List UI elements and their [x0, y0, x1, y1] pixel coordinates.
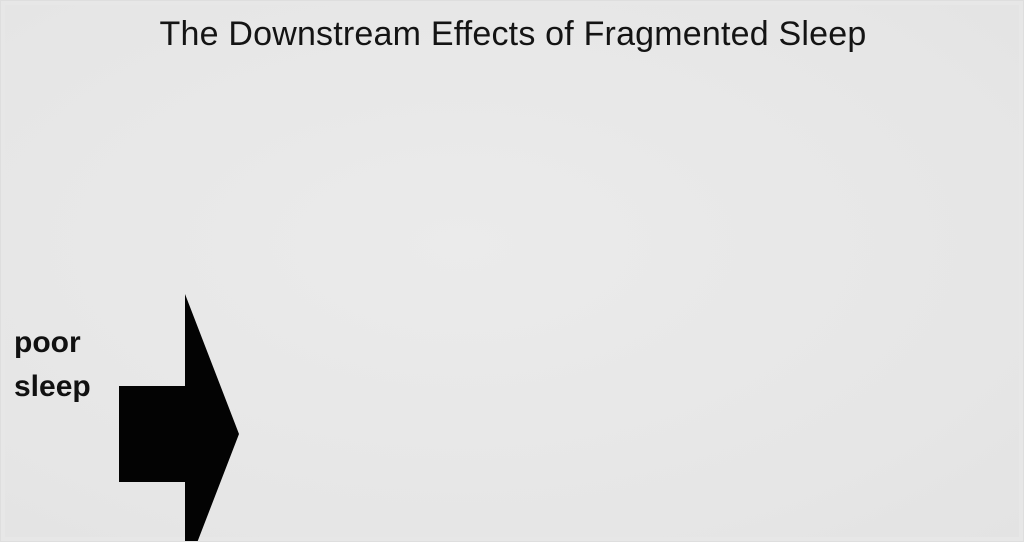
slide-canvas: The Downstream Effects of Fragmented Sle…: [0, 0, 1024, 542]
block-arrow-right-icon-1: [119, 294, 239, 542]
page-title: The Downstream Effects of Fragmented Sle…: [1, 13, 1024, 55]
source-line-1: poor: [14, 321, 124, 365]
source-line-2: sleep: [14, 365, 124, 409]
source-node-poor-sleep: poor sleep: [14, 321, 124, 409]
